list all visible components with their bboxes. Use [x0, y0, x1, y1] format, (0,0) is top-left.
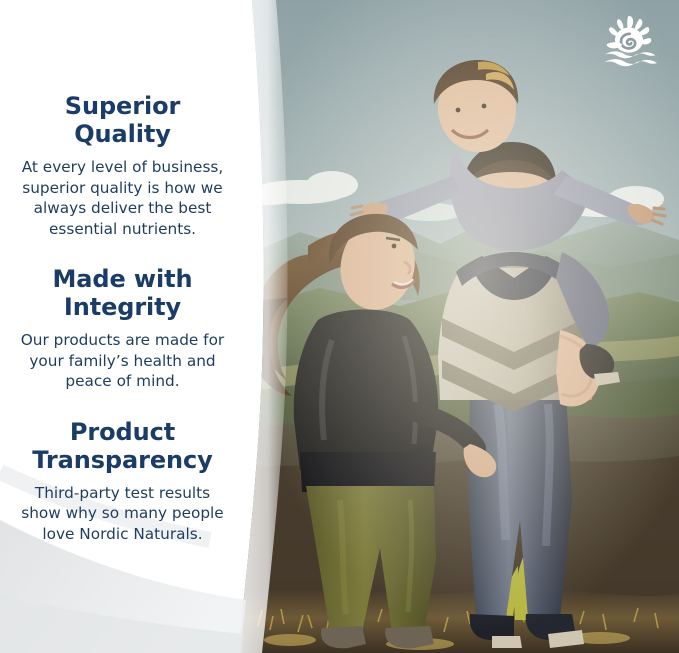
superior-quality-body: At every level of business, superior qua… [15, 157, 230, 239]
value-prop-product-transparency: Product Transparency Third-party test re… [20, 418, 225, 545]
sun-and-waves-logo-icon [599, 14, 661, 70]
value-props-list: Superior Quality At every level of busin… [0, 0, 245, 653]
made-with-integrity-body: Our products are made for your family’s … [17, 330, 229, 392]
product-transparency-body: Third-party test results show why so man… [20, 483, 225, 545]
value-prop-made-with-integrity: Made with Integrity Our products are mad… [17, 265, 229, 392]
product-transparency-heading: Product Transparency [20, 418, 225, 474]
promo-banner: Superior Quality At every level of busin… [0, 0, 679, 653]
made-with-integrity-heading: Made with Integrity [17, 265, 229, 321]
superior-quality-heading: Superior Quality [15, 92, 230, 148]
value-prop-superior-quality: Superior Quality At every level of busin… [15, 92, 230, 239]
